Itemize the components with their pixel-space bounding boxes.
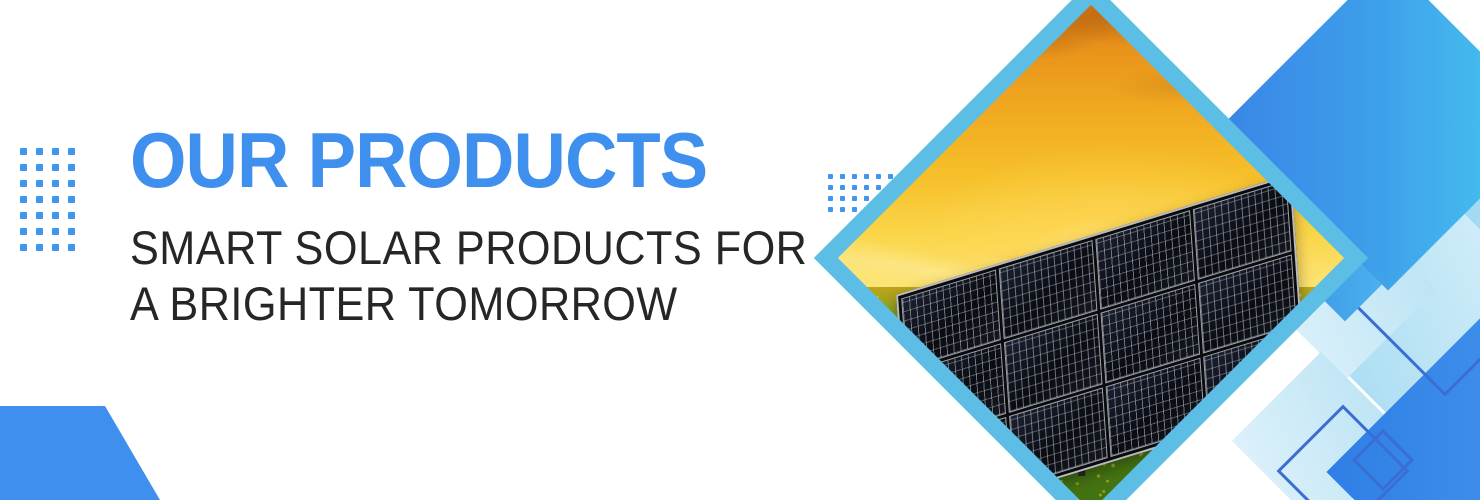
dot (68, 180, 75, 187)
dot-grid-left-decoration (20, 148, 84, 260)
our-products-banner: OUR PRODUCTS SMART SOLAR PRODUCTS FOR A … (0, 0, 1480, 500)
dot (20, 164, 27, 171)
dot (52, 196, 59, 203)
dot (20, 228, 27, 235)
panel-cell (906, 343, 1005, 442)
dot (36, 212, 43, 219)
dot (36, 196, 43, 203)
dot (36, 164, 43, 171)
dot (52, 148, 59, 155)
dot (20, 196, 27, 203)
dot (68, 196, 75, 203)
dot (36, 180, 43, 187)
dot (68, 164, 75, 171)
dot (20, 180, 27, 187)
banner-subtitle: SMART SOLAR PRODUCTS FOR A BRIGHTER TOMO… (130, 220, 829, 332)
dot (68, 212, 75, 219)
page-title: OUR PRODUCTS (130, 118, 837, 202)
dot (52, 244, 59, 251)
banner-text-block: OUR PRODUCTS SMART SOLAR PRODUCTS FOR A … (130, 118, 890, 332)
dot (20, 212, 27, 219)
dot (20, 148, 27, 155)
banner-subtitle-line-2: A BRIGHTER TOMORROW (130, 276, 829, 332)
banner-subtitle-line-1: SMART SOLAR PRODUCTS FOR (130, 220, 829, 276)
dot (52, 164, 59, 171)
dot (52, 180, 59, 187)
dot (68, 228, 75, 235)
dot (20, 244, 27, 251)
panel-cell (911, 417, 1010, 500)
dot (36, 244, 43, 251)
dot (36, 148, 43, 155)
dot (36, 228, 43, 235)
dot (52, 212, 59, 219)
dot (52, 228, 59, 235)
dot (68, 244, 75, 251)
bottom-left-trapezoid-decoration (0, 406, 160, 500)
dot (68, 148, 75, 155)
